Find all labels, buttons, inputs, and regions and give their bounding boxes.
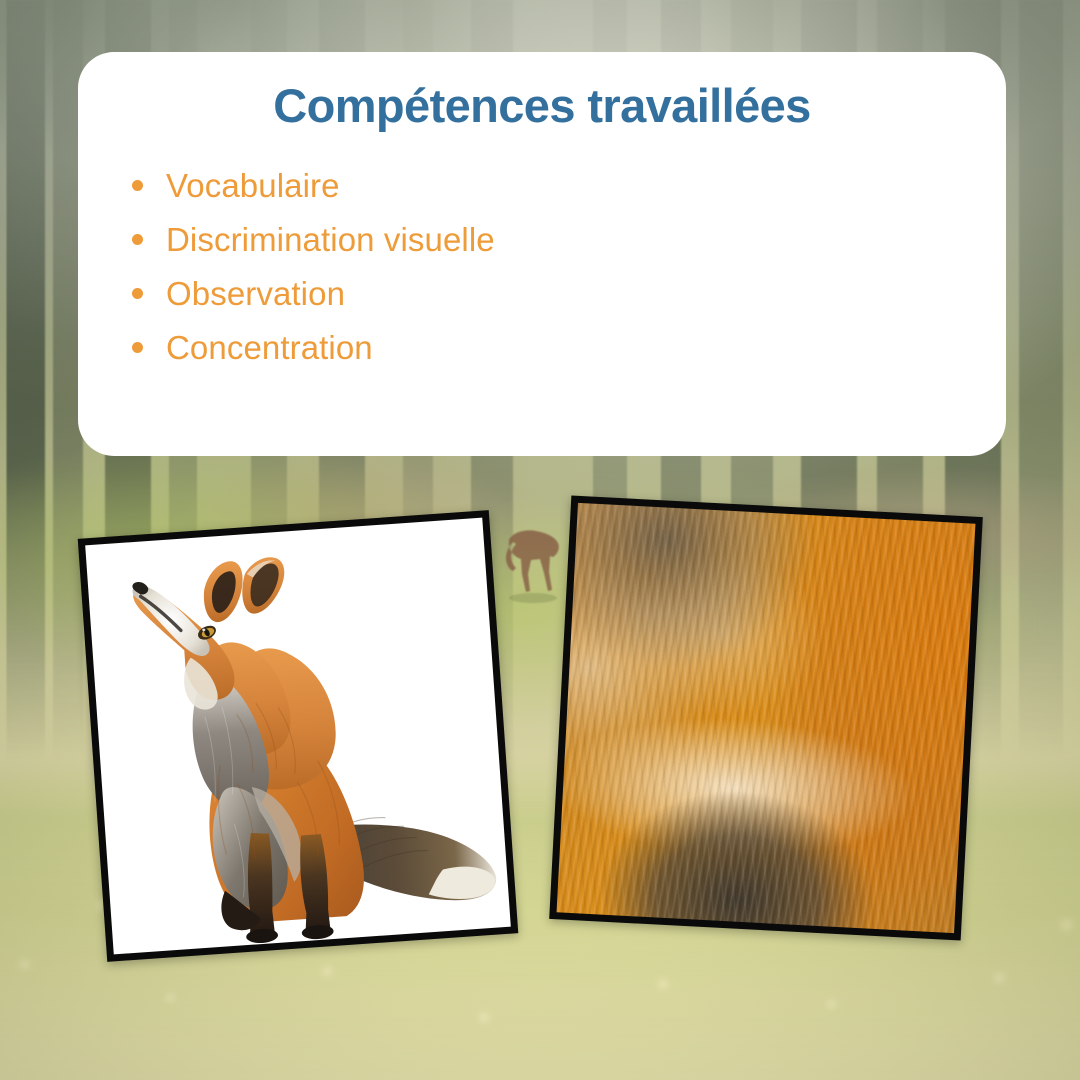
list-item: Vocabulaire	[132, 159, 1006, 213]
bullet-dot-icon	[132, 234, 143, 245]
bullet-dot-icon	[132, 342, 143, 353]
fur-texture	[557, 503, 976, 933]
bullet-dot-icon	[132, 288, 143, 299]
bullet-dot-icon	[132, 180, 143, 191]
background-horse-icon	[503, 512, 565, 608]
skills-card: Compétences travaillées Vocabulaire Disc…	[78, 52, 1006, 456]
page-title: Compétences travaillées	[78, 52, 1006, 133]
list-item: Observation	[132, 267, 1006, 321]
photo-frame-fox-full-body	[78, 510, 519, 962]
photo-fox-full-body	[85, 518, 511, 955]
photo-frame-fox-fur-closeup	[549, 496, 983, 941]
skill-label: Discrimination visuelle	[166, 221, 495, 259]
skill-label: Concentration	[166, 329, 373, 367]
list-item: Concentration	[132, 321, 1006, 375]
skills-list: Vocabulaire Discrimination visuelle Obse…	[78, 159, 1006, 375]
skill-label: Observation	[166, 275, 345, 313]
slide-canvas: Compétences travaillées Vocabulaire Disc…	[0, 0, 1080, 1080]
photo-fox-fur-closeup	[557, 503, 976, 933]
skill-label: Vocabulaire	[166, 167, 340, 205]
list-item: Discrimination visuelle	[132, 213, 1006, 267]
